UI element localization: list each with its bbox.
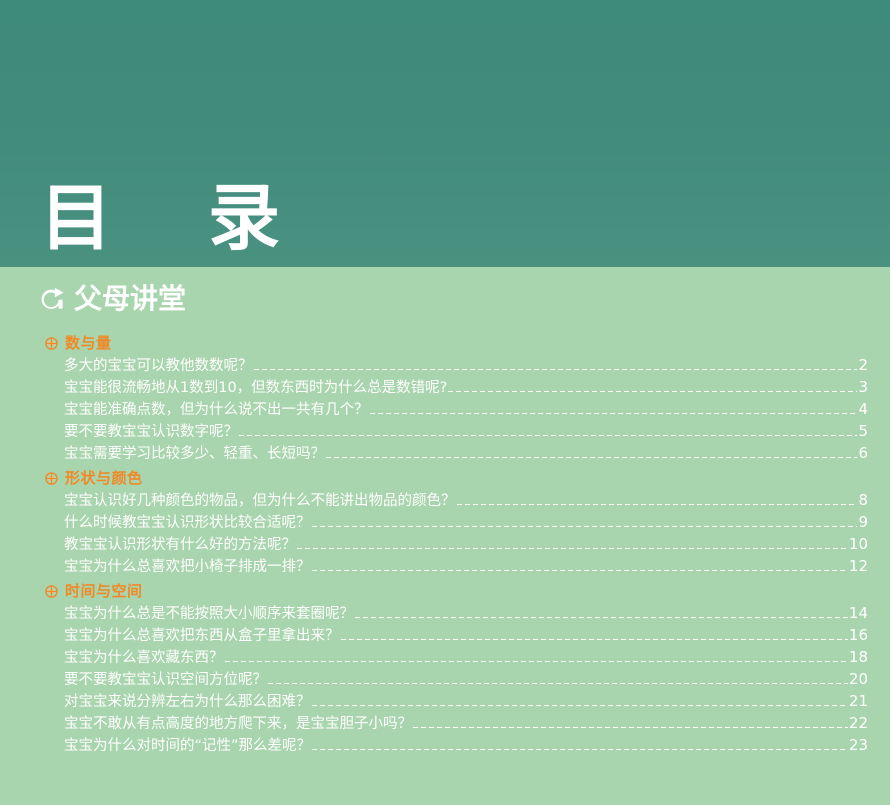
toc-section-title: 形状与颜色 (65, 470, 143, 486)
toc-section-title: 数与量 (65, 335, 112, 351)
toc-entry-leader-dots (312, 749, 848, 750)
toc-section-header: 时间与空间 (0, 580, 890, 602)
toc-page: 目 录 父母讲堂 数与量多大的宝宝可以教他数数呢？2宝宝能很流畅地从1数到10，… (0, 0, 890, 805)
toc-entry-leader-dots (239, 435, 857, 436)
toc-section-title: 时间与空间 (65, 583, 143, 599)
toc-entry[interactable]: 宝宝能很流畅地从1数到10，但数东西时为什么总是数错呢?3 (0, 376, 890, 398)
toc-entry-title: 宝宝认识好几种颜色的物品，但为什么不能讲出物品的颜色？ (64, 490, 456, 512)
toc-entry-leader-dots (312, 705, 848, 706)
page-title: 目 录 (40, 182, 292, 254)
toc-entry[interactable]: 对宝宝来说分辨左右为什么那么困难？21 (0, 690, 890, 712)
flower-bullet-icon (45, 472, 58, 485)
toc-entry-leader-dots (297, 548, 848, 549)
toc-section-header: 数与量 (0, 332, 890, 354)
toc-entry-page-number: 21 (849, 690, 868, 712)
toc-entry-leader-dots (254, 369, 858, 370)
toc-entry-title: 宝宝能准确点数，但为什么说不出一共有几个？ (64, 399, 369, 421)
toc-entry-page-number: 4 (858, 398, 868, 420)
toc-entry-page-number: 18 (849, 646, 868, 668)
toc-entry[interactable]: 宝宝不敢从有点高度的地方爬下来，是宝宝胆子小吗？22 (0, 712, 890, 734)
toc-entry-title: 对宝宝来说分辨左右为什么那么困难？ (64, 691, 311, 713)
toc-entry-title: 要不要教宝宝认识数字呢？ (64, 421, 238, 443)
toc-entry-page-number: 3 (858, 376, 868, 398)
toc-entry-leader-dots (312, 526, 858, 527)
toc-entry[interactable]: 宝宝为什么喜欢藏东西？18 (0, 646, 890, 668)
toc-entry-leader-dots (448, 391, 857, 392)
arrow-loop-icon (38, 286, 65, 313)
toc-entry[interactable]: 要不要教宝宝认识空间方位呢？20 (0, 668, 890, 690)
toc-entry-leader-dots (457, 504, 858, 505)
toc-entry-leader-dots (341, 639, 848, 640)
toc-entry-page-number: 14 (849, 602, 868, 624)
toc-entry-title: 多大的宝宝可以教他数数呢？ (64, 355, 253, 377)
toc-entry[interactable]: 宝宝为什么总是不能按照大小顺序来套圈呢？14 (0, 602, 890, 624)
toc-entry[interactable]: 多大的宝宝可以教他数数呢？2 (0, 354, 890, 376)
chapter-label: 父母讲堂 (74, 284, 186, 314)
toc-entry[interactable]: 教宝宝认识形状有什么好的方法呢？10 (0, 533, 890, 555)
toc-entry-title: 宝宝为什么喜欢藏东西？ (64, 647, 224, 669)
toc-section-header: 形状与颜色 (0, 467, 890, 489)
toc-entry[interactable]: 宝宝认识好几种颜色的物品，但为什么不能讲出物品的颜色？8 (0, 489, 890, 511)
toc-list: 数与量多大的宝宝可以教他数数呢？2宝宝能很流畅地从1数到10，但数东西时为什么总… (0, 332, 890, 756)
toc-entry-title: 宝宝为什么总喜欢把小椅子排成一排？ (64, 556, 311, 578)
toc-entry-page-number: 23 (849, 734, 868, 756)
toc-entry-leader-dots (326, 457, 857, 458)
toc-entry-leader-dots (413, 727, 848, 728)
toc-entry-title: 宝宝能很流畅地从1数到10，但数东西时为什么总是数错呢? (64, 377, 447, 399)
toc-entry-title: 宝宝需要学习比较多少、轻重、长短吗？ (64, 443, 325, 465)
toc-entry-leader-dots (355, 617, 848, 618)
toc-entry[interactable]: 宝宝为什么对时间的“记性”那么差呢？23 (0, 734, 890, 756)
toc-entry-title: 要不要教宝宝认识空间方位呢？ (64, 669, 267, 691)
toc-entry[interactable]: 宝宝为什么总喜欢把小椅子排成一排？12 (0, 555, 890, 577)
chapter-heading: 父母讲堂 (38, 284, 186, 314)
flower-bullet-icon (45, 337, 58, 350)
toc-entry[interactable]: 要不要教宝宝认识数字呢？5 (0, 420, 890, 442)
toc-entry-leader-dots (225, 661, 848, 662)
toc-entry-page-number: 20 (849, 668, 868, 690)
toc-entry-title: 宝宝不敢从有点高度的地方爬下来，是宝宝胆子小吗？ (64, 713, 412, 735)
toc-section: 时间与空间宝宝为什么总是不能按照大小顺序来套圈呢？14宝宝为什么总喜欢把东西从盒… (0, 580, 890, 756)
toc-section: 数与量多大的宝宝可以教他数数呢？2宝宝能很流畅地从1数到10，但数东西时为什么总… (0, 332, 890, 464)
toc-entry-page-number: 6 (858, 442, 868, 464)
toc-entry[interactable]: 宝宝能准确点数，但为什么说不出一共有几个？4 (0, 398, 890, 420)
toc-entry-leader-dots (268, 683, 848, 684)
toc-entry-page-number: 10 (849, 533, 868, 555)
toc-section: 形状与颜色宝宝认识好几种颜色的物品，但为什么不能讲出物品的颜色？8什么时候教宝宝… (0, 467, 890, 577)
toc-entry-title: 宝宝为什么总喜欢把东西从盒子里拿出来？ (64, 625, 340, 647)
toc-entry-title: 什么时候教宝宝认识形状比较合适呢？ (64, 512, 311, 534)
toc-entry[interactable]: 宝宝需要学习比较多少、轻重、长短吗？6 (0, 442, 890, 464)
toc-entry-page-number: 9 (858, 511, 868, 533)
flower-bullet-icon (45, 585, 58, 598)
toc-entry-page-number: 16 (849, 624, 868, 646)
toc-entry[interactable]: 宝宝为什么总喜欢把东西从盒子里拿出来？16 (0, 624, 890, 646)
toc-entry-title: 教宝宝认识形状有什么好的方法呢？ (64, 534, 296, 556)
toc-entry-page-number: 22 (849, 712, 868, 734)
toc-entry-page-number: 2 (858, 354, 868, 376)
toc-entry-leader-dots (312, 570, 848, 571)
toc-entry-page-number: 12 (849, 555, 868, 577)
toc-entry-leader-dots (370, 413, 858, 414)
toc-entry-page-number: 8 (858, 489, 868, 511)
toc-entry[interactable]: 什么时候教宝宝认识形状比较合适呢？9 (0, 511, 890, 533)
toc-entry-title: 宝宝为什么总是不能按照大小顺序来套圈呢？ (64, 603, 354, 625)
toc-entry-title: 宝宝为什么对时间的“记性”那么差呢？ (64, 735, 311, 757)
toc-entry-page-number: 5 (858, 420, 868, 442)
